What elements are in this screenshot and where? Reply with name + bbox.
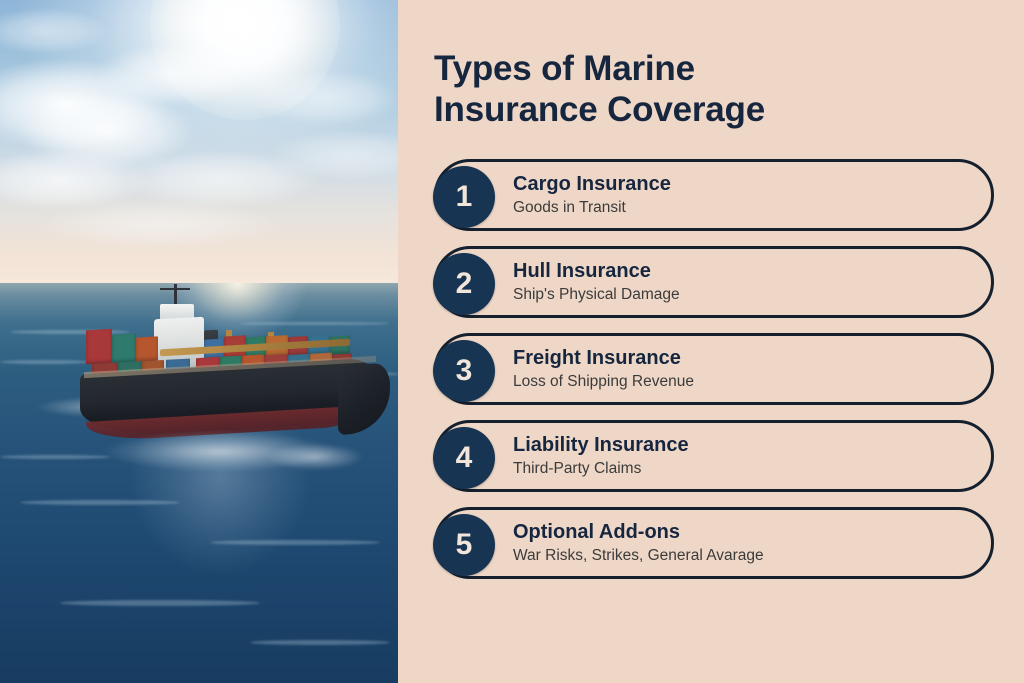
ship-bow: [338, 363, 390, 435]
page-title: Types of Marine Insurance Coverage: [434, 48, 864, 131]
item-number: 5: [456, 530, 473, 560]
item-number: 1: [456, 182, 473, 212]
list-item-subtitle: Goods in Transit: [513, 198, 671, 218]
list-item-title: Freight Insurance: [513, 346, 694, 371]
item-number: 4: [456, 443, 473, 473]
list-item-subtitle: Ship's Physical Damage: [513, 285, 680, 305]
list-item-text: Hull Insurance Ship's Physical Damage: [513, 259, 680, 305]
item-number-badge: 1: [433, 166, 495, 228]
list-item-subtitle: War Risks, Strikes, General Avarage: [513, 546, 764, 566]
wave: [60, 600, 260, 606]
list-item-title: Cargo Insurance: [513, 172, 671, 197]
list-item[interactable]: 4 Liability Insurance Third-Party Claims: [434, 420, 994, 492]
item-number-badge: 2: [433, 253, 495, 315]
list-item[interactable]: 3 Freight Insurance Loss of Shipping Rev…: [434, 333, 994, 405]
cloud: [250, 70, 398, 126]
item-number: 2: [456, 269, 473, 299]
page-title-line-2: Insurance Coverage: [434, 90, 765, 129]
item-number-badge: 5: [433, 514, 495, 576]
list-item[interactable]: 5 Optional Add-ons War Risks, Strikes, G…: [434, 507, 994, 579]
wave: [210, 540, 380, 545]
content-panel: Types of Marine Insurance Coverage 1 Car…: [398, 0, 1024, 683]
wave: [20, 500, 180, 505]
item-number: 3: [456, 356, 473, 386]
page-title-line-1: Types of Marine: [434, 49, 695, 88]
coverage-list: 1 Cargo Insurance Goods in Transit 2 Hul…: [434, 159, 994, 579]
list-item-subtitle: Loss of Shipping Revenue: [513, 372, 694, 392]
list-item-title: Liability Insurance: [513, 433, 689, 458]
ship-mast-arm: [160, 288, 190, 290]
list-item-text: Liability Insurance Third-Party Claims: [513, 433, 689, 479]
list-item[interactable]: 2 Hull Insurance Ship's Physical Damage: [434, 246, 994, 318]
ship-photo: [0, 0, 398, 683]
list-item-text: Cargo Insurance Goods in Transit: [513, 172, 671, 218]
list-item-title: Hull Insurance: [513, 259, 680, 284]
cloud: [40, 200, 280, 248]
list-item-title: Optional Add-ons: [513, 520, 764, 545]
list-item-subtitle: Third-Party Claims: [513, 459, 689, 479]
item-number-badge: 3: [433, 340, 495, 402]
wave: [250, 640, 390, 645]
item-number-badge: 4: [433, 427, 495, 489]
list-item-text: Optional Add-ons War Risks, Strikes, Gen…: [513, 520, 764, 566]
ship-wake: [250, 438, 380, 476]
marine-insurance-infographic: Types of Marine Insurance Coverage 1 Car…: [0, 0, 1024, 683]
list-item-text: Freight Insurance Loss of Shipping Reven…: [513, 346, 694, 392]
list-item[interactable]: 1 Cargo Insurance Goods in Transit: [434, 159, 994, 231]
